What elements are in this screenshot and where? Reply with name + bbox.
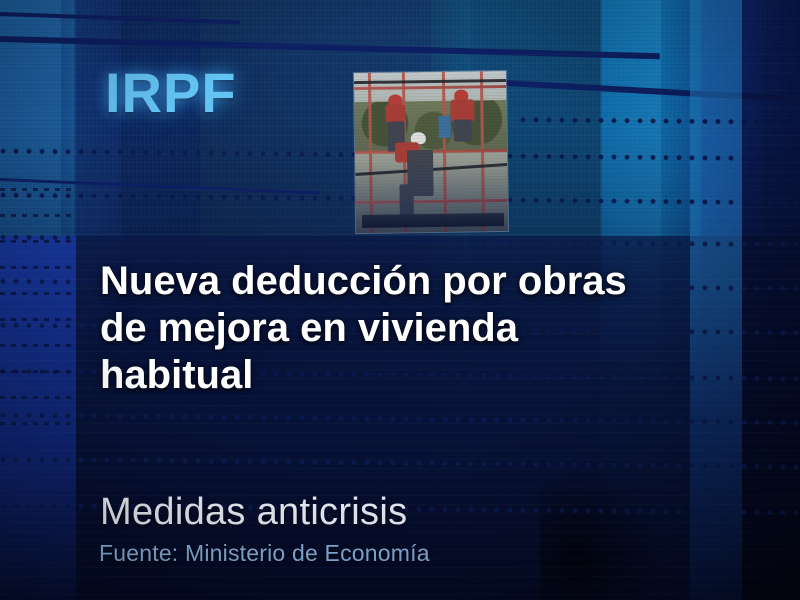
headline-line-2: de mejora en vivienda <box>100 305 700 352</box>
news-graphic-slide: IRPF Nueva deducción por obras de mejora… <box>0 0 800 600</box>
headline-line-1: Nueva deducción por obras <box>100 258 700 305</box>
headline: Nueva deducción por obras de mejora en v… <box>100 258 700 399</box>
source-credit: Fuente: Ministerio de Economía <box>99 540 430 567</box>
construction-workers-scaffolding-photo <box>354 71 508 233</box>
photo-bottom-plank <box>362 213 504 228</box>
photo-grain <box>354 71 508 233</box>
category-label: IRPF <box>105 60 237 125</box>
subtitle: Medidas anticrisis <box>100 491 407 534</box>
headline-line-3: habitual <box>100 352 700 399</box>
